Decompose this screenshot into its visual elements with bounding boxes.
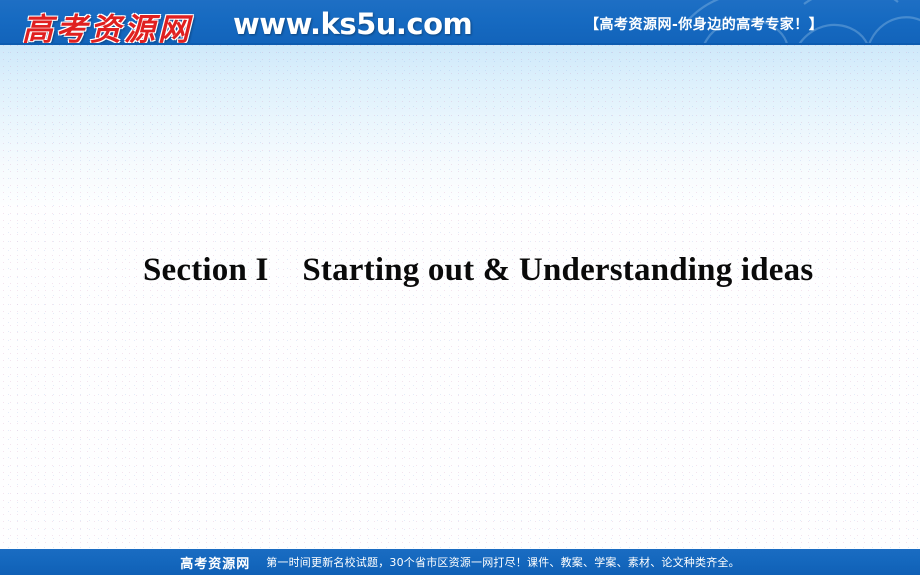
- presentation-slide: 高考资源网 www.ks5u.com 【高考资源网-你身边的高考专家！】 Sec…: [0, 0, 920, 575]
- footer-content: 高考资源网 第一时间更新名校试题，30个省市区资源一网打尽！课件、教案、学案、素…: [0, 549, 920, 575]
- site-header-banner: 高考资源网 www.ks5u.com 【高考资源网-你身边的高考专家！】: [0, 0, 920, 45]
- header-divider: [0, 43, 920, 45]
- site-tagline: 【高考资源网-你身边的高考专家！】: [585, 14, 823, 34]
- slide-title: Section I Starting out & Understanding i…: [143, 252, 843, 289]
- footer-description: 第一时间更新名校试题，30个省市区资源一网打尽！课件、教案、学案、素材、论文种类…: [266, 554, 740, 570]
- footer-logo-chinese: 高考资源网: [180, 553, 250, 572]
- site-logo-chinese: 高考资源网: [22, 4, 192, 45]
- slide-background: [0, 45, 920, 575]
- site-footer-banner: 高考资源网 第一时间更新名校试题，30个省市区资源一网打尽！课件、教案、学案、素…: [0, 549, 920, 575]
- site-logo-url: www.ks5u.com: [233, 7, 472, 41]
